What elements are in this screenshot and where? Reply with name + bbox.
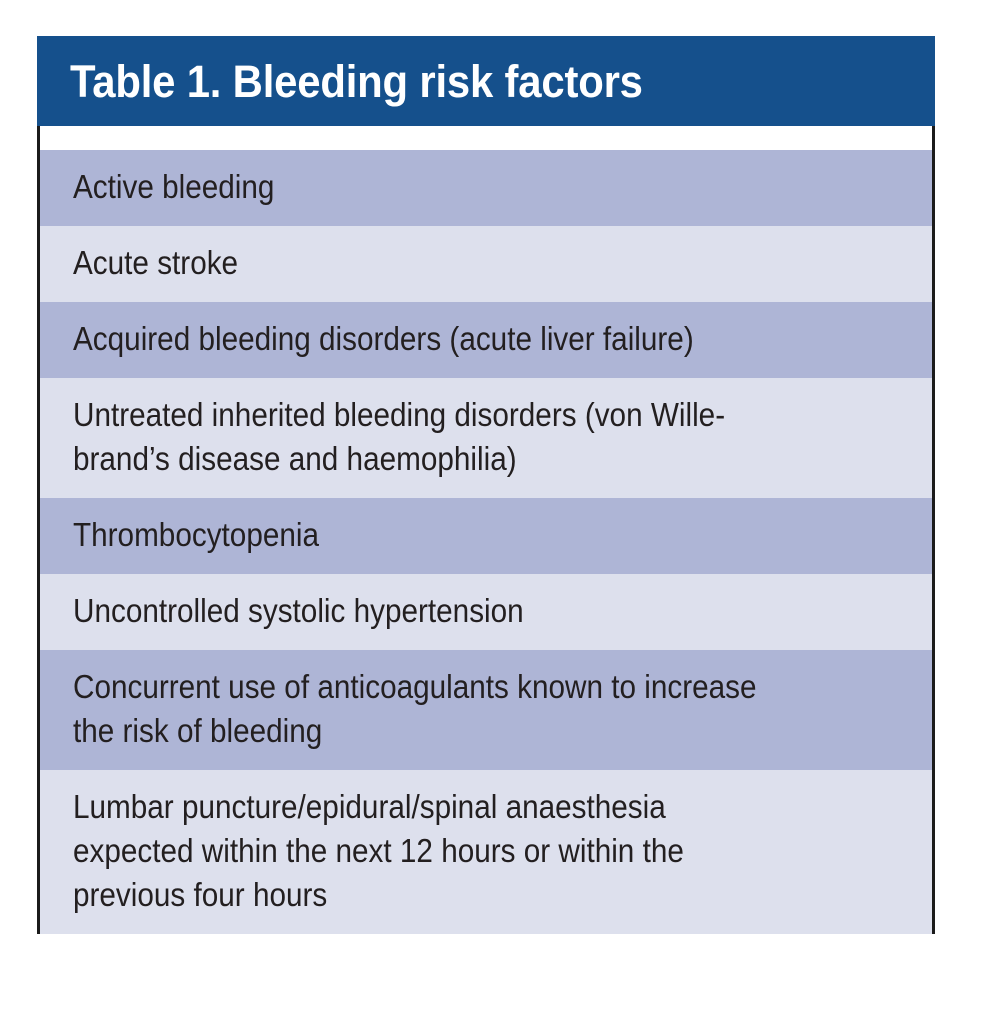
table-row: Untreated inherited bleeding disorders (…: [40, 378, 932, 498]
table-title: Table 1. Bleeding risk factors: [70, 59, 643, 104]
table-row: Thrombocytopenia: [40, 498, 932, 574]
table-row-label: Lumbar puncture/epidural/spinal anaesthe…: [73, 785, 819, 917]
table-row-label: Acute stroke: [73, 241, 819, 285]
table-figure: Table 1. Bleeding risk factors Active bl…: [37, 36, 935, 968]
table-row: Lumbar puncture/epidural/spinal anaesthe…: [40, 770, 932, 934]
table-row-label: Thrombocytopenia: [73, 513, 819, 557]
table-row-label: Untreated inherited bleeding disorders (…: [73, 393, 819, 481]
table-bottom-space: [37, 934, 935, 968]
table-row-label: Concurrent use of anticoagulants known t…: [73, 665, 819, 753]
table-row: Acute stroke: [40, 226, 932, 302]
table-row-label: Uncontrolled systolic hypertension: [73, 589, 819, 633]
table-header-bar: Table 1. Bleeding risk factors: [37, 36, 935, 126]
table-row: Active bleeding: [40, 150, 932, 226]
table-row-label: Active bleeding: [73, 165, 819, 209]
table-row-label: Acquired bleeding disorders (acute liver…: [73, 317, 819, 361]
table-row: Concurrent use of anticoagulants known t…: [40, 650, 932, 770]
header-body-divider: [37, 126, 935, 150]
table-row: Acquired bleeding disorders (acute liver…: [40, 302, 932, 378]
table-row: Uncontrolled systolic hypertension: [40, 574, 932, 650]
table-body: Active bleeding Acute stroke Acquired bl…: [37, 150, 935, 934]
